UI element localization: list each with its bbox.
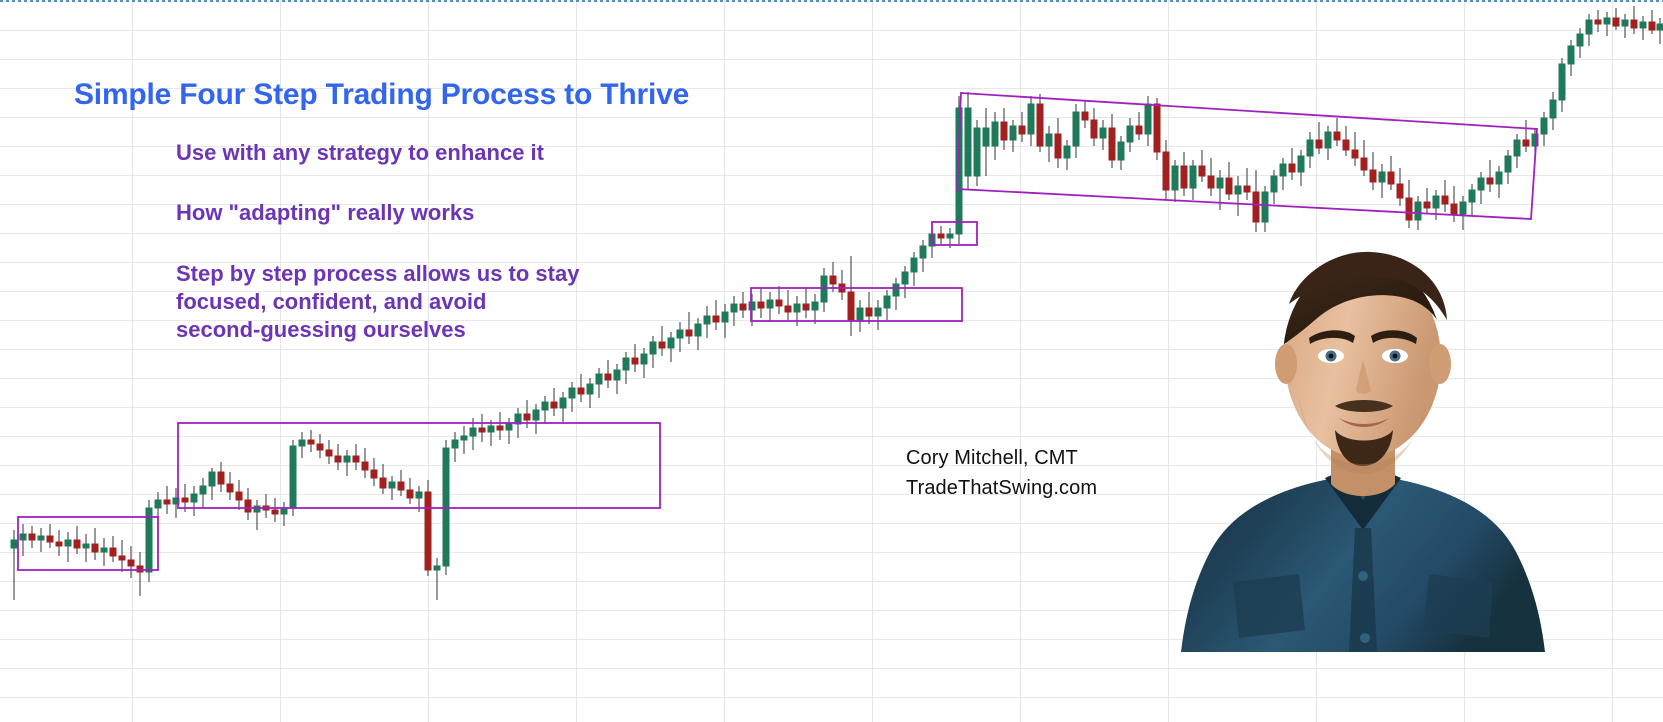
candle-body	[1055, 134, 1061, 158]
candle-body	[209, 472, 215, 486]
candle-body	[659, 342, 665, 348]
candle-body	[1379, 172, 1385, 182]
candle-body	[677, 330, 683, 338]
candle-body	[308, 440, 314, 444]
candle-body	[1082, 112, 1088, 120]
candle-body	[101, 548, 107, 552]
candle-body	[857, 308, 863, 320]
candle-body	[290, 446, 296, 508]
candle-body	[911, 258, 917, 272]
candle-body	[1109, 128, 1115, 160]
candle-body	[884, 296, 890, 308]
shirt-button-2	[1360, 633, 1370, 643]
candle-body	[1028, 104, 1034, 134]
candle-body	[29, 534, 35, 540]
candle-body	[803, 304, 809, 310]
candle-body	[1568, 46, 1574, 64]
candle-body	[164, 500, 170, 504]
candle-body	[1253, 192, 1259, 222]
candle-body	[1289, 164, 1295, 172]
candle-body	[1631, 20, 1637, 28]
candle-body	[1640, 22, 1646, 28]
candle-body	[155, 500, 161, 508]
candle-body	[1496, 172, 1502, 184]
shirt-pocket-right	[1423, 574, 1493, 638]
candle-body	[1100, 128, 1106, 138]
candle-body	[722, 312, 728, 322]
candle-body	[488, 426, 494, 432]
candle-body	[551, 402, 557, 408]
candle-body	[578, 388, 584, 394]
candle-body	[236, 492, 242, 500]
candle-body	[758, 302, 764, 308]
candle-body	[272, 510, 278, 514]
bullet-item-1: Use with any strategy to enhance it	[176, 139, 544, 167]
candle-body	[1604, 18, 1610, 24]
candle-body	[1442, 196, 1448, 204]
candle-body	[128, 560, 134, 566]
candle-body	[1163, 152, 1169, 190]
candle-body	[902, 272, 908, 284]
candle-body	[731, 304, 737, 312]
candle-body	[254, 506, 260, 512]
candle-body	[389, 482, 395, 488]
candle-body	[1091, 120, 1097, 138]
candle-body	[362, 462, 368, 470]
candle-body	[74, 540, 80, 548]
candle-body	[371, 470, 377, 478]
ear-right	[1429, 344, 1451, 384]
candle-body	[470, 428, 476, 436]
candle-body	[938, 234, 944, 238]
candle-body	[1190, 166, 1196, 188]
candle-body	[1352, 150, 1358, 158]
candle-body	[344, 456, 350, 462]
candle-body	[623, 358, 629, 370]
candle-body	[1208, 176, 1214, 188]
candle-body	[893, 284, 899, 296]
candle-body	[317, 444, 323, 450]
bullet-item-2: How "adapting" really works	[176, 199, 474, 227]
candle-body	[497, 426, 503, 430]
candle-body	[326, 450, 332, 456]
candle-body	[398, 482, 404, 490]
candle-body	[227, 484, 233, 492]
candle-body	[866, 308, 872, 316]
shirt-pocket-left	[1233, 574, 1305, 638]
candle-body	[1271, 176, 1277, 192]
bullet-item-3: Step by step process allows us to stay f…	[176, 260, 579, 344]
candle-body	[1262, 192, 1268, 222]
candle-body	[1577, 34, 1583, 46]
candle-body	[1451, 204, 1457, 214]
candle-body	[524, 414, 530, 420]
candle-body	[1388, 172, 1394, 184]
candle-body	[1657, 24, 1663, 30]
candle-body	[92, 544, 98, 552]
candle-body	[443, 448, 449, 566]
pupil-left	[1329, 354, 1334, 359]
avatar	[1139, 238, 1587, 652]
candle-body	[668, 338, 674, 348]
candle-body	[1235, 186, 1241, 194]
candle-body	[1010, 126, 1016, 140]
candle-body	[1514, 140, 1520, 156]
candle-body	[1001, 122, 1007, 140]
candle-body	[1397, 184, 1403, 198]
candle-body	[38, 536, 44, 540]
candle-body	[1505, 156, 1511, 172]
candle-body	[614, 370, 620, 380]
candle-body	[1343, 140, 1349, 150]
candle-body	[434, 566, 440, 570]
candle-body	[1433, 196, 1439, 208]
candle-body	[605, 374, 611, 380]
candle-body	[848, 292, 854, 320]
candle-body	[983, 128, 989, 146]
candle-body	[1469, 190, 1475, 202]
candle-body	[632, 358, 638, 364]
candle-body	[830, 276, 836, 284]
candle-body	[767, 300, 773, 308]
candle-body	[785, 306, 791, 312]
candle-body	[56, 542, 62, 546]
candle-body	[1595, 20, 1601, 24]
candle-body	[416, 492, 422, 498]
candle-body	[1424, 202, 1430, 208]
candle-body	[1037, 104, 1043, 146]
candle-body	[1199, 166, 1205, 176]
candle-body	[191, 494, 197, 502]
candle-body	[1127, 126, 1133, 142]
candle-body	[20, 534, 26, 540]
candle-body	[1370, 170, 1376, 182]
candle-body	[1244, 186, 1250, 192]
candle-body	[650, 342, 656, 354]
candle-body	[380, 478, 386, 488]
candle-body	[452, 440, 458, 448]
candle-body	[992, 122, 998, 146]
candle-body	[1064, 146, 1070, 158]
candle-body	[1316, 140, 1322, 148]
candle-body	[1073, 112, 1079, 146]
candle-body	[1550, 100, 1556, 118]
candle-body	[1325, 132, 1331, 148]
candle-body	[1523, 140, 1529, 146]
candle-body	[335, 456, 341, 462]
candle-body	[110, 548, 116, 556]
candle-body	[353, 456, 359, 462]
candle-body	[182, 498, 188, 502]
candle-body	[1217, 178, 1223, 188]
candle-body	[218, 472, 224, 484]
candle-body	[1298, 156, 1304, 172]
candle-body	[299, 440, 305, 446]
candle-body	[1415, 202, 1421, 220]
candle-body	[1136, 126, 1142, 134]
candle-body	[1586, 20, 1592, 34]
shirt-button-1	[1358, 571, 1368, 581]
candle-body	[1622, 20, 1628, 26]
candle-body	[1280, 164, 1286, 176]
candle-body	[641, 354, 647, 364]
candle-body	[812, 302, 818, 310]
candle-body	[1361, 158, 1367, 170]
promo-graphic: Simple Four Step Trading Process to Thri…	[0, 0, 1663, 722]
candle-body	[83, 544, 89, 548]
candle-body	[200, 486, 206, 494]
candle-body	[1559, 64, 1565, 100]
candle-body	[875, 308, 881, 316]
pupil-right	[1393, 354, 1398, 359]
candle-body	[704, 316, 710, 324]
candle-body	[740, 304, 746, 310]
candle-body	[695, 324, 701, 336]
candle-body	[974, 128, 980, 176]
candle-body	[11, 540, 17, 548]
candle-body	[569, 388, 575, 398]
author-name: Cory Mitchell, CMT	[906, 447, 1078, 470]
candle-body	[1334, 132, 1340, 140]
candle-body	[1487, 178, 1493, 184]
candle-body	[560, 398, 566, 408]
candle-body	[776, 300, 782, 306]
candle-body	[461, 436, 467, 440]
descending-channel	[957, 93, 1537, 219]
candle-body	[749, 302, 755, 310]
candle-body	[479, 428, 485, 432]
candle-body	[965, 108, 971, 176]
candle-body	[119, 556, 125, 560]
candle-body	[821, 276, 827, 302]
page-title: Simple Four Step Trading Process to Thri…	[74, 78, 689, 112]
candle-body	[947, 234, 953, 238]
candle-body	[245, 500, 251, 512]
candle-body	[1118, 142, 1124, 160]
candle-body	[425, 492, 431, 570]
candle-body	[506, 424, 512, 430]
candle-body	[1541, 118, 1547, 134]
candle-body	[1613, 18, 1619, 26]
candle-body	[1226, 178, 1232, 194]
candle-body	[1019, 126, 1025, 134]
candle-body	[65, 540, 71, 546]
candle-body	[713, 316, 719, 322]
candle-body	[533, 410, 539, 420]
candle-body	[1478, 178, 1484, 190]
candle-body	[1307, 140, 1313, 156]
candle-body	[686, 330, 692, 336]
candle-body	[1460, 202, 1466, 214]
candle-body	[1145, 104, 1151, 134]
candle-body	[137, 566, 143, 572]
candle-body	[587, 384, 593, 394]
author-website: TradeThatSwing.com	[906, 477, 1097, 500]
candle-body	[1046, 134, 1052, 146]
candle-body	[1406, 198, 1412, 220]
candle-body	[1649, 22, 1655, 30]
candle-body	[920, 246, 926, 258]
candle-body	[1181, 166, 1187, 188]
candle-body	[407, 490, 413, 498]
candle-body	[1172, 166, 1178, 190]
ear-left	[1275, 344, 1297, 384]
candle-body	[47, 536, 53, 542]
candle-body	[794, 304, 800, 312]
candle-body	[596, 374, 602, 384]
candle-body	[542, 402, 548, 410]
candle-body	[1154, 104, 1160, 152]
